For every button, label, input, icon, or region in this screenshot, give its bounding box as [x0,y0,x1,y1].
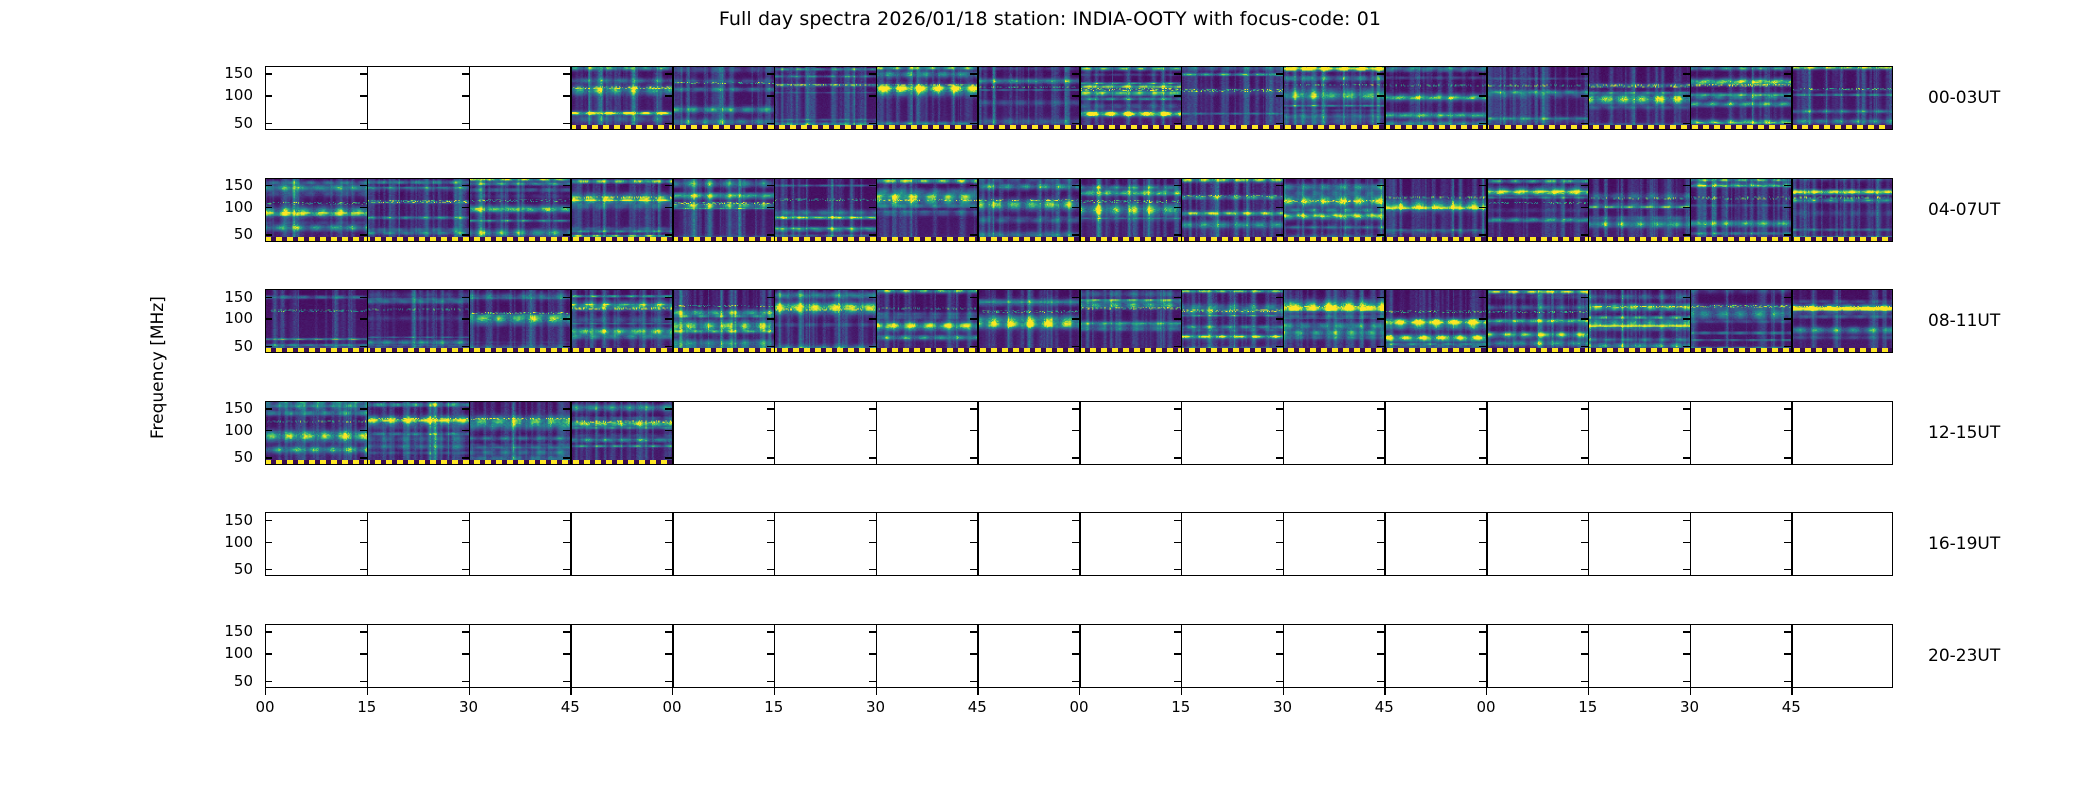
spectrogram-panel[interactable] [1283,289,1385,353]
spectrogram-panel[interactable] [469,289,571,353]
y-tick-mark [1683,234,1690,235]
y-tick-mark [1479,542,1486,543]
spectrogram-panel[interactable] [1283,178,1385,242]
spectrogram-image [774,178,876,242]
y-tick-mark [1581,681,1588,682]
spectrogram-panel[interactable] [367,401,469,465]
panel-separator [469,289,470,353]
y-tick-mark [1174,520,1181,521]
spectrogram-panel[interactable] [1181,66,1283,130]
y-tick-mark [462,207,469,208]
spectrogram-image [1283,289,1385,353]
y-tick-mark [665,631,672,632]
panel-separator [1486,178,1488,242]
y-tick-mark [1683,123,1690,124]
spectrogram-panel[interactable] [672,289,774,353]
panel-separator [1283,66,1284,130]
panel-separator [876,289,877,353]
x-tick-mark [1791,688,1792,695]
spectrogram-panel[interactable] [367,289,469,353]
panel-separator [1079,624,1081,688]
y-tick-mark [563,185,570,186]
x-tick-mark [1588,688,1589,695]
y-tick-mark [1174,73,1181,74]
y-tick-label: 100 [205,421,253,439]
y-tick-mark [1479,408,1486,409]
y-tick-mark [1377,95,1384,96]
y-tick-label: 150 [205,64,253,82]
y-tick-mark [1377,73,1384,74]
y-tick-mark [1683,430,1690,431]
y-tick-mark [869,185,876,186]
y-tick-mark [462,457,469,458]
x-tick-mark [1384,688,1385,695]
y-tick-mark [970,542,977,543]
y-tick-mark [869,408,876,409]
x-tick-label: 15 [1568,698,1608,716]
y-tick-mark [970,520,977,521]
y-tick-label: 50 [205,337,253,355]
y-tick-mark [767,318,774,319]
spectrogram-image [1181,178,1283,242]
row-label-16-19ut: 16-19UT [1928,534,2000,554]
panel-separator [1791,401,1792,465]
spectrogram-panel[interactable] [876,289,978,353]
spectrogram-image [367,289,469,353]
y-tick-mark [265,123,272,124]
y-tick-mark [1174,681,1181,682]
spectrogram-image [1486,289,1588,353]
y-tick-mark [563,520,570,521]
panel-separator [1486,289,1488,353]
panel-separator [1181,66,1182,130]
y-tick-mark [869,457,876,458]
spectrogram-image [1690,66,1792,130]
panel-separator [1486,624,1488,688]
y-tick-mark [1276,95,1283,96]
panel-separator [570,512,571,576]
y-tick-mark [1784,457,1791,458]
y-tick-mark [665,185,672,186]
y-tick-mark [265,73,272,74]
y-tick-mark [360,123,367,124]
y-tick-mark [462,123,469,124]
panel-separator [1079,178,1081,242]
panel-separator [469,178,470,242]
panel-separator [774,512,775,576]
y-tick-mark [1581,542,1588,543]
y-tick-mark [665,430,672,431]
y-tick-mark [1377,457,1384,458]
spectrogram-panel[interactable] [570,66,672,130]
y-tick-mark [1784,653,1791,654]
y-tick-mark [360,457,367,458]
y-tick-mark [360,234,367,235]
y-tick-mark [1377,520,1384,521]
y-tick-mark [1479,73,1486,74]
panel-separator [672,178,674,242]
y-tick-mark [1377,631,1384,632]
y-tick-mark [462,430,469,431]
y-tick-mark [869,123,876,124]
y-tick-mark [1072,631,1079,632]
y-tick-mark [970,430,977,431]
y-tick-mark [563,318,570,319]
panel-separator [1791,66,1792,130]
panel-separator [1181,512,1182,576]
panel-separator [1283,178,1284,242]
y-tick-mark [360,297,367,298]
y-tick-mark [869,520,876,521]
y-tick-mark [1174,569,1181,570]
x-tick-label: 15 [347,698,387,716]
panel-separator [469,66,470,130]
y-tick-mark [767,123,774,124]
y-tick-mark [665,73,672,74]
y-tick-mark [1683,318,1690,319]
y-tick-mark [1683,631,1690,632]
spectrogram-panel[interactable] [570,401,672,465]
y-tick-mark [1072,681,1079,682]
panel-separator [1588,624,1589,688]
panel-separator [672,289,674,353]
y-tick-mark [1276,542,1283,543]
spectrogram-panel[interactable] [1791,66,1893,130]
y-tick-mark [360,631,367,632]
y-tick-mark [1784,185,1791,186]
x-tick-label: 30 [1263,698,1303,716]
spectrogram-panel[interactable] [1690,289,1792,353]
panel-separator [1181,624,1182,688]
panel-separator [469,401,470,465]
panel-separator [1791,624,1792,688]
y-tick-mark [665,207,672,208]
y-tick-label: 100 [205,86,253,104]
y-tick-mark [1377,297,1384,298]
spectrogram-panel[interactable] [1384,178,1486,242]
spectrogram-panel[interactable] [1079,289,1181,353]
spectrogram-panel[interactable] [367,178,469,242]
y-tick-mark [265,234,272,235]
spectrogram-image [1486,66,1588,130]
panel-separator [1690,512,1691,576]
spectrogram-image [1588,66,1690,130]
spectrogram-panel[interactable] [774,66,876,130]
panel-separator [774,178,775,242]
panel-separator [1588,401,1589,465]
y-tick-mark [1683,520,1690,521]
y-tick-mark [665,318,672,319]
spectrogram-panel[interactable] [469,401,571,465]
panel-separator [876,512,877,576]
y-tick-mark [1276,520,1283,521]
spectrogram-image [1588,178,1690,242]
y-tick-mark [665,457,672,458]
spectrogram-image [977,178,1079,242]
x-tick-label: 00 [1466,698,1506,716]
y-tick-mark [360,73,367,74]
y-tick-mark [1581,520,1588,521]
panel-separator [876,624,877,688]
spectrogram-image [1690,178,1792,242]
y-tick-mark [1276,569,1283,570]
spectrogram-panel[interactable] [570,178,672,242]
spectrogram-panel[interactable] [469,178,571,242]
y-tick-mark [1479,95,1486,96]
y-tick-mark [1784,207,1791,208]
spectrogram-image [774,66,876,130]
y-tick-mark [265,631,272,632]
spectrogram-panel[interactable] [774,289,876,353]
spectrogram-panel[interactable] [1181,178,1283,242]
y-tick-mark [665,346,672,347]
y-tick-mark [265,207,272,208]
panel-separator [570,289,571,353]
spectrogram-panel[interactable] [1384,289,1486,353]
y-tick-mark [1276,185,1283,186]
y-tick-mark [1377,569,1384,570]
y-tick-mark [767,457,774,458]
y-tick-mark [1784,318,1791,319]
panel-separator [367,624,368,688]
row-label-12-15ut: 12-15UT [1928,423,2000,443]
y-tick-mark [970,457,977,458]
row-label-08-11ut: 08-11UT [1928,311,2000,331]
y-tick-mark [462,346,469,347]
y-tick-mark [1377,318,1384,319]
panel-separator [367,66,368,130]
y-tick-mark [665,234,672,235]
y-tick-mark [767,297,774,298]
panel-separator [469,512,470,576]
y-tick-mark [1784,408,1791,409]
y-tick-mark [1784,234,1791,235]
y-tick-mark [767,542,774,543]
x-tick-mark [1181,688,1182,695]
y-tick-mark [1683,73,1690,74]
row-label-20-23ut: 20-23UT [1928,646,2000,666]
y-tick-mark [1377,653,1384,654]
spectrogram-image [265,289,367,353]
spectrogram-panel[interactable] [1791,289,1893,353]
y-tick-mark [360,408,367,409]
y-tick-mark [1276,457,1283,458]
spectrogram-panel[interactable] [1690,66,1792,130]
y-tick-mark [462,318,469,319]
panel-separator [672,624,674,688]
y-tick-mark [970,408,977,409]
y-tick-mark [1479,346,1486,347]
y-tick-mark [265,681,272,682]
spectrogram-panel[interactable] [1588,66,1690,130]
panel-separator [1690,289,1691,353]
y-tick-mark [462,542,469,543]
spectrogram-panel[interactable] [876,178,978,242]
y-tick-mark [1377,234,1384,235]
y-tick-mark [1479,631,1486,632]
y-tick-mark [869,207,876,208]
y-tick-mark [767,185,774,186]
spectrogram-panel[interactable] [1181,289,1283,353]
panel-separator [774,624,775,688]
y-tick-mark [1784,430,1791,431]
y-tick-mark [265,653,272,654]
panel-separator [1079,401,1081,465]
spectrogram-panel[interactable] [265,178,367,242]
y-tick-mark [1581,73,1588,74]
spectrogram-panel[interactable] [1588,178,1690,242]
y-tick-mark [1479,207,1486,208]
y-tick-mark [1377,185,1384,186]
y-tick-mark [1377,542,1384,543]
y-tick-mark [1072,520,1079,521]
y-tick-mark [1581,430,1588,431]
y-tick-mark [1581,631,1588,632]
y-tick-mark [970,318,977,319]
spectrogram-panel[interactable] [1079,66,1181,130]
y-tick-mark [1479,681,1486,682]
panel-separator [774,401,775,465]
y-tick-mark [1479,234,1486,235]
y-tick-mark [665,569,672,570]
panel-separator [1384,178,1385,242]
y-tick-mark [1174,123,1181,124]
y-tick-mark [360,569,367,570]
spectrogram-image [265,401,367,465]
y-tick-label: 150 [205,399,253,417]
y-tick-mark [970,95,977,96]
spectrogram-panel[interactable] [265,401,367,465]
spectrogram-panel[interactable] [1791,178,1893,242]
y-tick-mark [665,653,672,654]
row-label-00-03ut: 00-03UT [1928,88,2000,108]
y-tick-mark [665,297,672,298]
spectrogram-panel[interactable] [265,289,367,353]
spectrogram-panel[interactable] [672,66,774,130]
spectrogram-panel[interactable] [1486,66,1588,130]
spectrogram-row [265,401,1893,465]
panel-separator [1079,289,1081,353]
spectrogram-panel[interactable] [977,66,1079,130]
panel-separator [876,178,877,242]
row-label-04-07ut: 04-07UT [1928,200,2000,220]
spectrogram-panel[interactable] [774,178,876,242]
panel-separator [774,66,775,130]
panel-separator [1283,624,1284,688]
panel-separator [1384,512,1385,576]
spectrogram-image [1384,66,1486,130]
y-tick-mark [1784,123,1791,124]
panel-separator [469,624,470,688]
y-tick-mark [1276,73,1283,74]
y-tick-mark [1377,681,1384,682]
y-tick-label: 50 [205,225,253,243]
spectrogram-panel[interactable] [672,178,774,242]
spectrogram-panel[interactable] [1486,178,1588,242]
x-tick-label: 00 [1059,698,1099,716]
panel-separator [977,624,978,688]
panel-separator [1486,66,1488,130]
y-tick-label: 150 [205,176,253,194]
spectrogram-image [977,289,1079,353]
y-tick-mark [1072,457,1079,458]
y-tick-mark [1072,297,1079,298]
y-tick-mark [665,123,672,124]
panel-separator [977,66,978,130]
y-tick-mark [1276,653,1283,654]
y-tick-label: 50 [205,448,253,466]
x-tick-mark [1079,688,1080,695]
y-tick-mark [1581,234,1588,235]
y-tick-mark [1377,346,1384,347]
spectrogram-panel[interactable] [876,66,978,130]
y-tick-mark [1174,185,1181,186]
spectrogram-image [1690,289,1792,353]
x-tick-mark [469,688,470,695]
y-tick-mark [1174,408,1181,409]
panel-separator [876,401,877,465]
spectrogram-image [876,289,978,353]
spectrogram-panel[interactable] [1486,289,1588,353]
spectrogram-panel[interactable] [977,178,1079,242]
spectrogram-image [672,66,774,130]
spectrogram-image [1181,66,1283,130]
spectrogram-image [1384,178,1486,242]
spectrogram-image [1079,178,1181,242]
spectrogram-panel[interactable] [1588,289,1690,353]
y-tick-mark [563,681,570,682]
x-tick-label: 45 [1771,698,1811,716]
y-tick-mark [1683,653,1690,654]
y-tick-mark [1276,631,1283,632]
spectrogram-panel[interactable] [977,289,1079,353]
spectrogram-panel[interactable] [1283,66,1385,130]
y-tick-mark [563,542,570,543]
spectrogram-image [1791,66,1893,130]
spectrogram-image [1283,66,1385,130]
spectrogram-panel[interactable] [1690,178,1792,242]
spectrogram-panel[interactable] [1079,178,1181,242]
y-tick-mark [1174,207,1181,208]
spectrogram-panel[interactable] [1384,66,1486,130]
spectrogram-row [265,512,1893,576]
y-tick-mark [265,318,272,319]
y-tick-mark [1174,631,1181,632]
x-tick-label: 00 [652,698,692,716]
y-tick-mark [563,653,570,654]
y-tick-mark [1377,207,1384,208]
y-tick-mark [265,408,272,409]
y-tick-mark [462,520,469,521]
y-tick-label: 50 [205,672,253,690]
spectrogram-panel[interactable] [570,289,672,353]
y-tick-mark [1784,520,1791,521]
spectrogram-image [469,401,571,465]
y-tick-mark [869,631,876,632]
panel-separator [1690,66,1691,130]
y-tick-mark [869,542,876,543]
spectrogram-image [265,178,367,242]
y-tick-mark [1581,123,1588,124]
spectrogram-image [367,401,469,465]
y-tick-mark [767,207,774,208]
panel-separator [367,178,368,242]
panel-separator [1181,401,1182,465]
y-tick-label: 150 [205,511,253,529]
y-tick-mark [1479,569,1486,570]
y-tick-mark [665,542,672,543]
y-tick-mark [1276,207,1283,208]
